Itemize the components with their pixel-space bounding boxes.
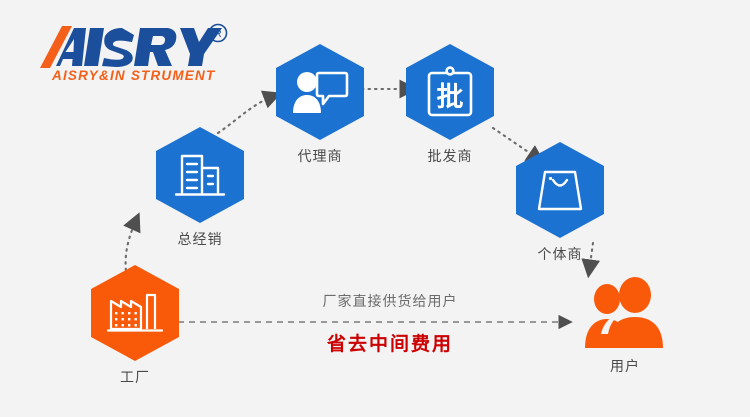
clipboard-pi-icon: 批 bbox=[426, 66, 474, 118]
person-chat-icon bbox=[291, 68, 349, 116]
svg-text:R: R bbox=[214, 29, 221, 40]
factory-icon bbox=[107, 289, 163, 337]
agent-hex bbox=[276, 44, 364, 140]
wholesaler-hex: 批 bbox=[406, 44, 494, 140]
node-factory-label: 工厂 bbox=[75, 367, 195, 387]
node-retailer[interactable]: 个体商 bbox=[500, 142, 620, 264]
node-factory[interactable]: 工厂 bbox=[75, 265, 195, 387]
node-customer[interactable]: 用户 bbox=[555, 276, 695, 376]
users-icon bbox=[577, 276, 673, 350]
node-customer-label: 用户 bbox=[555, 356, 695, 376]
node-distributor[interactable]: 总经销 bbox=[140, 127, 260, 249]
factory-hex bbox=[91, 265, 179, 361]
shopping-bag-icon bbox=[536, 166, 584, 214]
distributor-hex bbox=[156, 127, 244, 223]
customer-art bbox=[555, 276, 695, 350]
savings-label: 省去中间费用 bbox=[255, 329, 525, 356]
wholesaler-glyph: 批 bbox=[437, 82, 464, 113]
node-retailer-label: 个体商 bbox=[500, 244, 620, 264]
diagram-canvas: R AISRY&IN STRUMENT bbox=[0, 0, 750, 417]
node-distributor-label: 总经销 bbox=[140, 229, 260, 249]
node-wholesaler-label: 批发商 bbox=[390, 146, 510, 166]
node-agent-label: 代理商 bbox=[260, 146, 380, 166]
brand-tagline: AISRY&IN STRUMENT bbox=[51, 68, 216, 83]
brand-logo: R AISRY&IN STRUMENT bbox=[22, 22, 232, 84]
direct-supply-label: 厂家直接供货给用户 bbox=[255, 291, 525, 311]
retailer-hex bbox=[516, 142, 604, 238]
node-wholesaler[interactable]: 批 批发商 bbox=[390, 44, 510, 166]
node-agent[interactable]: 代理商 bbox=[260, 44, 380, 166]
office-building-icon bbox=[173, 150, 227, 200]
